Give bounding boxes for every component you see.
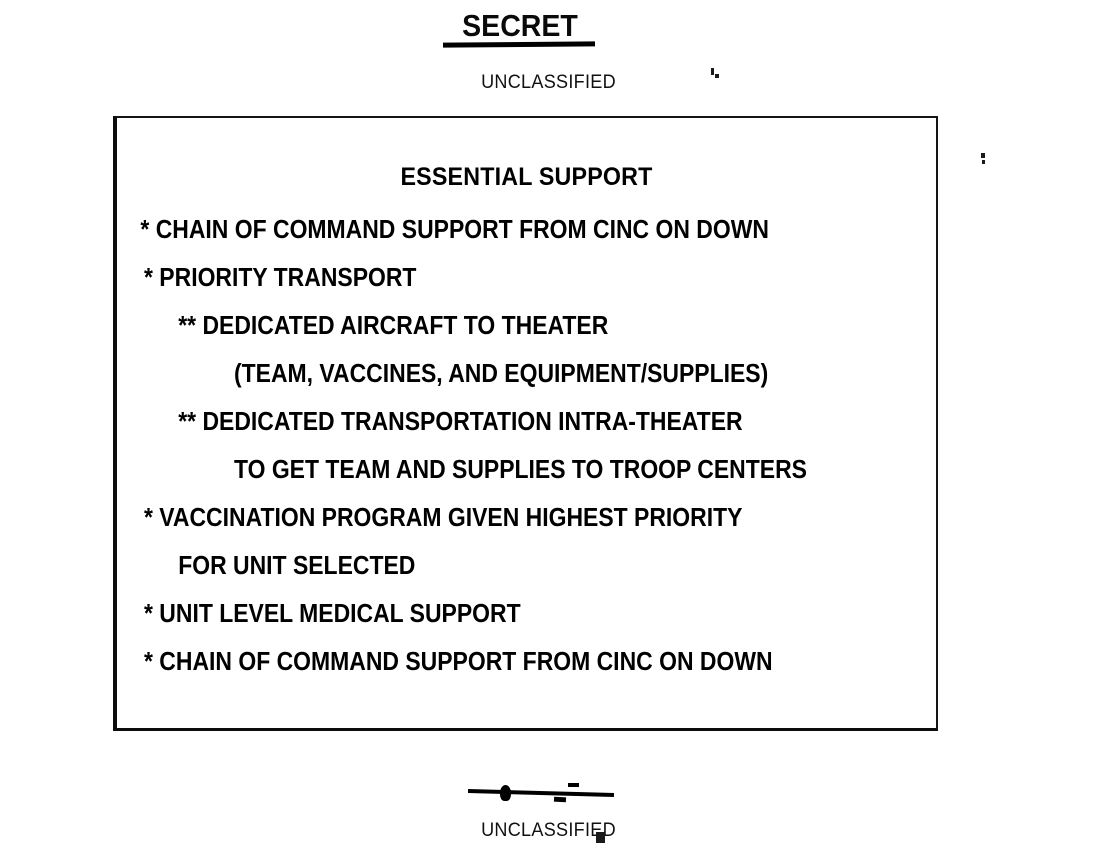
list-item: FOR UNIT SELECTED	[117, 542, 854, 590]
redaction-blob	[500, 785, 511, 801]
list-item: TO GET TEAM AND SUPPLIES TO TROOP CENTER…	[117, 446, 854, 494]
list-item: * CHAIN OF COMMAND SUPPORT FROM CINC ON …	[117, 206, 854, 254]
list-item: * PRIORITY TRANSPORT	[117, 254, 854, 302]
strikethrough-line	[443, 41, 595, 47]
scan-artifact	[596, 832, 605, 843]
scan-artifact	[715, 74, 719, 78]
list-item: ** DEDICATED AIRCRAFT TO THEATER	[117, 302, 854, 350]
list-item: (TEAM, VACCINES, AND EQUIPMENT/SUPPLIES)	[117, 350, 854, 398]
scan-artifact	[982, 160, 985, 164]
bullet-list: * CHAIN OF COMMAND SUPPORT FROM CINC ON …	[117, 206, 936, 686]
secret-stamp-struck-through: SECRET	[449, 18, 591, 60]
redaction-mark	[554, 797, 566, 803]
document-page: SECRET UNCLASSIFIED ESSENTIAL SUPPORT * …	[0, 0, 1097, 850]
scan-artifact	[711, 68, 714, 75]
slide-title: ESSENTIAL SUPPORT	[146, 163, 908, 192]
list-item: ** DEDICATED TRANSPORTATION INTRA-THEATE…	[117, 398, 854, 446]
list-item: * VACCINATION PROGRAM GIVEN HIGHEST PRIO…	[117, 494, 854, 542]
unclassified-stamp-header: UNCLASSIFIED	[27, 72, 1069, 94]
list-item: * UNIT LEVEL MEDICAL SUPPORT	[117, 590, 854, 638]
unclassified-stamp-footer: UNCLASSIFIED	[27, 820, 1069, 842]
strikethrough-line	[468, 789, 614, 797]
footer-obliterated-marking	[468, 780, 614, 806]
list-item: * CHAIN OF COMMAND SUPPORT FROM CINC ON …	[117, 638, 854, 686]
slide-content-box: ESSENTIAL SUPPORT * CHAIN OF COMMAND SUP…	[113, 116, 938, 731]
redaction-mark	[568, 783, 579, 787]
secret-stamp-text: SECRET	[455, 9, 586, 43]
scan-artifact	[981, 153, 985, 158]
